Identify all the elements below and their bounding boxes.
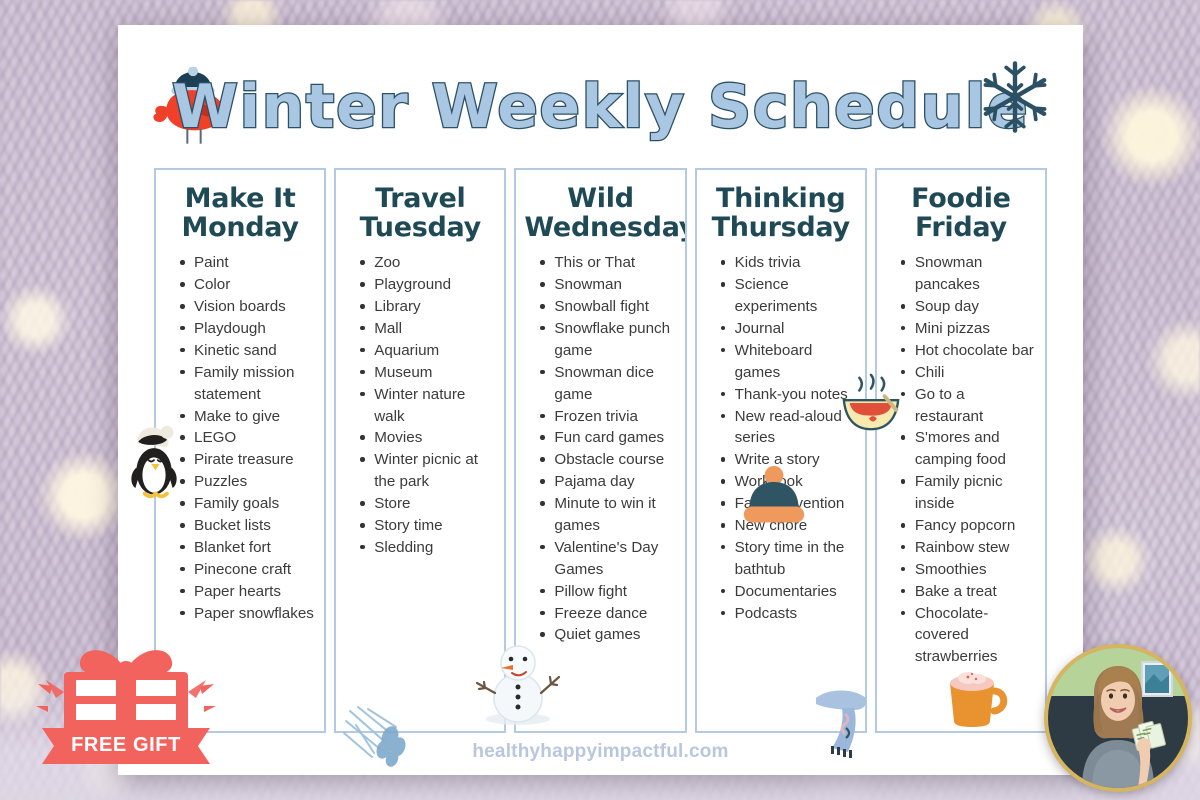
- column-heading: Wild Wednesday: [524, 184, 676, 242]
- list-item: Family picnic inside: [901, 471, 1035, 515]
- free-gift-label: FREE GIFT: [50, 728, 202, 762]
- list-item: Frozen trivia: [540, 406, 674, 428]
- free-gift-badge[interactable]: FREE GIFT: [36, 636, 216, 776]
- list-item: Mall: [360, 318, 494, 340]
- soup-bowl-icon: [836, 373, 906, 437]
- list-item: Journal: [721, 318, 855, 340]
- activity-list: Kids trivia Science experiments Journal …: [705, 252, 857, 624]
- list-item: Freeze dance: [540, 603, 674, 625]
- list-item: Story time: [360, 515, 494, 537]
- activity-list: Paint Color Vision boards Playdough Kine…: [164, 252, 316, 624]
- list-item: Go to a restaurant: [901, 384, 1035, 428]
- list-item: Playground: [360, 274, 494, 296]
- list-item: Pillow fight: [540, 581, 674, 603]
- list-item: Chili: [901, 362, 1035, 384]
- page-title: Winter Weekly Schedule: [118, 77, 1083, 137]
- list-item: Store: [360, 493, 494, 515]
- heading-line-2: Thursday: [705, 213, 857, 242]
- activity-list: This or That Snowman Snowball fight Snow…: [524, 252, 676, 646]
- list-item: Vision boards: [180, 296, 314, 318]
- list-item: Museum: [360, 362, 494, 384]
- list-item: Science experiments: [721, 274, 855, 318]
- snowman-icon: [463, 635, 573, 735]
- list-item: Thank-you notes: [721, 384, 855, 406]
- activity-list: Zoo Playground Library Mall Aquarium Mus…: [344, 252, 496, 558]
- avatar[interactable]: [1044, 644, 1192, 792]
- list-item: Make to give: [180, 406, 314, 428]
- column-thinking-thursday: Thinking Thursday Kids trivia Science ex…: [695, 168, 867, 733]
- column-foodie-friday: Foodie Friday Snowman pancakes Soup day …: [875, 168, 1047, 733]
- list-item: Snowflake punch game: [540, 318, 674, 362]
- list-item: Snowman dice game: [540, 362, 674, 406]
- pinecone-icon: [340, 697, 418, 767]
- list-item: S'mores and camping food: [901, 427, 1035, 471]
- title-row: Winter Weekly Schedule: [118, 33, 1083, 161]
- list-item: Library: [360, 296, 494, 318]
- heading-line-2: Tuesday: [344, 213, 496, 242]
- list-item: Fancy popcorn: [901, 515, 1035, 537]
- list-item: Documentaries: [721, 581, 855, 603]
- snowflake-icon: [975, 57, 1055, 137]
- list-item: Smoothies: [901, 559, 1035, 581]
- avatar-photo: [1048, 648, 1188, 788]
- list-item: Obstacle course: [540, 449, 674, 471]
- list-item: Movies: [360, 427, 494, 449]
- list-item: Paper hearts: [180, 581, 314, 603]
- heading-line-2: Friday: [885, 213, 1037, 242]
- list-item: Fun card games: [540, 427, 674, 449]
- column-heading: Thinking Thursday: [705, 184, 857, 242]
- penguin-icon: [126, 423, 182, 501]
- list-item: This or That: [540, 252, 674, 274]
- column-heading: Travel Tuesday: [344, 184, 496, 242]
- list-item: Paint: [180, 252, 314, 274]
- list-item: Story time in the bathtub: [721, 537, 855, 581]
- list-item: New read-aloud series: [721, 406, 855, 450]
- list-item: LEGO: [180, 427, 314, 449]
- activity-list: Snowman pancakes Soup day Mini pizzas Ho…: [885, 252, 1037, 668]
- list-item: Bake a treat: [901, 581, 1035, 603]
- list-item: Family goals: [180, 493, 314, 515]
- list-item: Winter picnic at the park: [360, 449, 494, 493]
- list-item: Kids trivia: [721, 252, 855, 274]
- list-item: Pajama day: [540, 471, 674, 493]
- list-item: Puzzles: [180, 471, 314, 493]
- heading-line-1: Travel: [344, 184, 496, 213]
- list-item: Playdough: [180, 318, 314, 340]
- hot-cocoa-icon: [938, 657, 1012, 731]
- schedule-columns: Make It Monday Paint Color Vision boards…: [154, 168, 1047, 733]
- list-item: Pirate treasure: [180, 449, 314, 471]
- beanie-hat-icon: [738, 465, 810, 531]
- list-item: Color: [180, 274, 314, 296]
- list-item: Hot chocolate bar: [901, 340, 1035, 362]
- list-item: Rainbow stew: [901, 537, 1035, 559]
- list-item: Snowman pancakes: [901, 252, 1035, 296]
- list-item: Sledding: [360, 537, 494, 559]
- heading-line-1: Wild: [524, 184, 676, 213]
- site-url: healthyhappyimpactful.com: [118, 741, 1083, 763]
- list-item: Zoo: [360, 252, 494, 274]
- list-item: Paper snowflakes: [180, 603, 314, 625]
- list-item: Valentine's Day Games: [540, 537, 674, 581]
- list-item: Whiteboard games: [721, 340, 855, 384]
- heading-line-2: Monday: [164, 213, 316, 242]
- list-item: Podcasts: [721, 603, 855, 625]
- list-item: Kinetic sand: [180, 340, 314, 362]
- heading-line-1: Foodie: [885, 184, 1037, 213]
- schedule-sheet: Winter Weekly Schedule: [118, 25, 1083, 775]
- list-item: Snowman: [540, 274, 674, 296]
- list-item: Minute to win it games: [540, 493, 674, 537]
- heading-line-1: Make It: [164, 184, 316, 213]
- heading-line-2: Wednesday: [524, 213, 676, 242]
- list-item: Mini pizzas: [901, 318, 1035, 340]
- scarf-icon: [808, 680, 880, 766]
- list-item: Snowball fight: [540, 296, 674, 318]
- list-item: Bucket lists: [180, 515, 314, 537]
- list-item: Soup day: [901, 296, 1035, 318]
- list-item: Aquarium: [360, 340, 494, 362]
- list-item: Winter nature walk: [360, 384, 494, 428]
- heading-line-1: Thinking: [705, 184, 857, 213]
- column-heading: Make It Monday: [164, 184, 316, 242]
- list-item: Family mission statement: [180, 362, 314, 406]
- list-item: Pinecone craft: [180, 559, 314, 581]
- list-item: Blanket fort: [180, 537, 314, 559]
- column-heading: Foodie Friday: [885, 184, 1037, 242]
